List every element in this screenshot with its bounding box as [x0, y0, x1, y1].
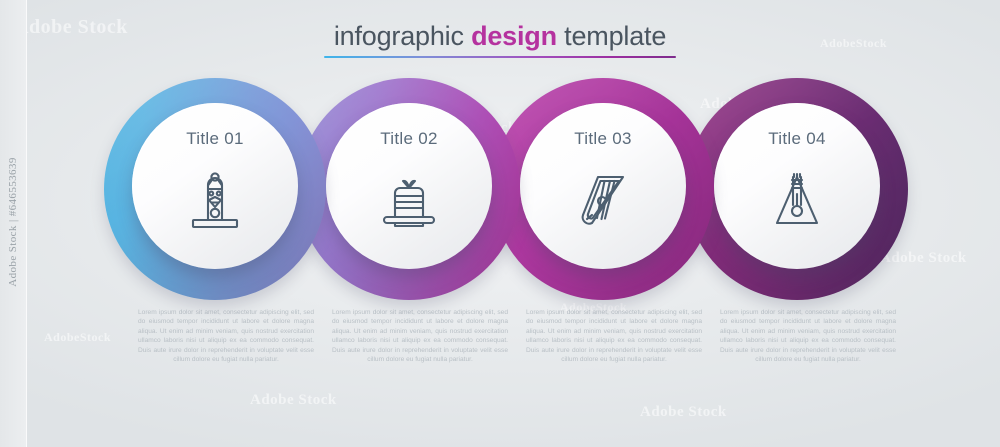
steps-row: Title 01: [0, 78, 1000, 300]
hand-fan-icon: [567, 163, 639, 235]
layer-cake-icon: [373, 163, 445, 235]
step-disc-2[interactable]: Title 02: [326, 103, 492, 269]
step-title-1: Title 01: [132, 129, 298, 149]
step-description-4: Lorem ipsum dolor sit amet, consectetur …: [720, 308, 896, 364]
step-description-2: Lorem ipsum dolor sit amet, consectetur …: [332, 308, 508, 364]
header-underline: [324, 56, 676, 58]
step-node-1[interactable]: Title 01: [104, 78, 326, 300]
header: infographic design template: [0, 20, 1000, 58]
balalaika-icon: [761, 163, 833, 235]
page-title-part1: infographic: [334, 21, 471, 51]
page-title-accent: design: [471, 21, 557, 51]
totem-pole-icon: [179, 163, 251, 235]
step-title-3: Title 03: [520, 129, 686, 149]
step-node-4[interactable]: Title 04: [686, 78, 908, 300]
page-title-part2: template: [557, 21, 666, 51]
step-title-2: Title 02: [326, 129, 492, 149]
step-disc-3[interactable]: Title 03: [520, 103, 686, 269]
infographic-canvas: Adobe Stock Adobe Stock Adobe Stock Adob…: [0, 0, 1000, 447]
step-description-1: Lorem ipsum dolor sit amet, consectetur …: [138, 308, 314, 364]
step-disc-1[interactable]: Title 01: [132, 103, 298, 269]
step-title-4: Title 04: [714, 129, 880, 149]
descriptions-row: Lorem ipsum dolor sit amet, consectetur …: [0, 308, 1000, 418]
step-disc-4[interactable]: Title 04: [714, 103, 880, 269]
step-node-3[interactable]: Title 03: [492, 78, 714, 300]
page-title: infographic design template: [334, 20, 666, 52]
step-description-3: Lorem ipsum dolor sit amet, consectetur …: [526, 308, 702, 364]
step-node-2[interactable]: Title 02: [298, 78, 520, 300]
